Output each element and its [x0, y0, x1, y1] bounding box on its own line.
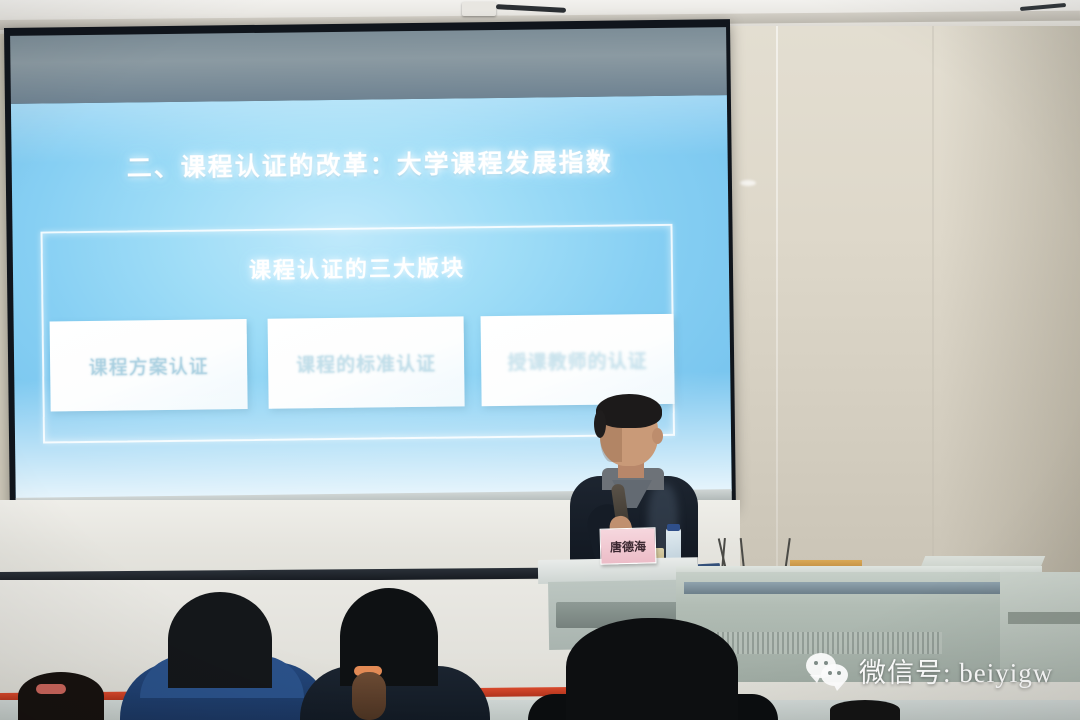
watermark-text: 微信号: beiyigw — [859, 651, 1053, 690]
wall-seam — [932, 26, 934, 612]
wechat-eye — [814, 661, 818, 665]
audience-head — [830, 700, 900, 720]
wall-seam — [776, 26, 778, 612]
slide-card-label: 课程的标准认证 — [296, 348, 436, 377]
nameplate: 唐德海 — [600, 527, 657, 564]
wechat-bubble-small — [821, 664, 848, 686]
speaker-hair-side — [594, 410, 606, 438]
slide-card-label: 授课教师的认证 — [507, 346, 647, 375]
audience-head — [168, 592, 272, 688]
slide-subtitle: 课程认证的三大版块 — [43, 248, 671, 288]
wall-shadow — [940, 26, 1080, 612]
wechat-eye — [837, 671, 841, 675]
console-far-right-slot — [1008, 612, 1080, 624]
audience-hair-clip — [36, 684, 66, 694]
water-bottle-cap — [667, 524, 680, 531]
slide-card: 课程的标准认证 — [268, 316, 465, 408]
projector-icon — [462, 2, 496, 16]
slide-card: 课程方案认证 — [50, 319, 248, 411]
lecture-hall-photo: 二、课程认证的改革：大学课程发展指数 课程认证的三大版块 课程方案认证 课程的标… — [0, 0, 1080, 720]
wall-highlight — [740, 180, 756, 186]
wechat-eye — [824, 661, 828, 665]
audience-head-foreground — [566, 618, 738, 720]
watermark: 微信号: beiyigw — [806, 646, 1053, 694]
wechat-logo-icon — [806, 653, 850, 687]
audience-ponytail — [352, 672, 386, 720]
speaker-ear — [652, 428, 663, 444]
slide-title: 二、课程认证的改革：大学课程发展指数 — [11, 141, 727, 186]
wechat-eye — [828, 671, 832, 675]
audience-head — [18, 672, 104, 720]
screen-top-band — [10, 27, 727, 104]
nameplate-text: 唐德海 — [610, 537, 646, 555]
console-control-strip — [684, 582, 1030, 594]
slide-card-label: 课程方案认证 — [88, 351, 208, 379]
